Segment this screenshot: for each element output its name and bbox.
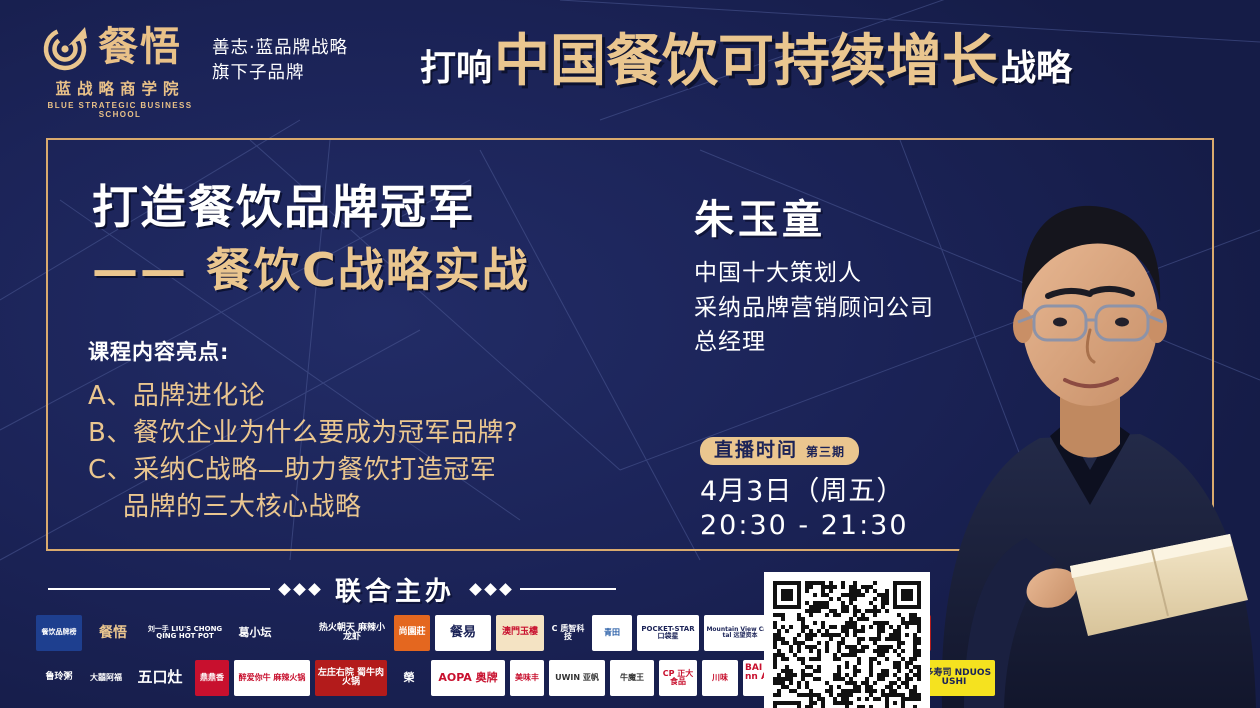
logo-school-cn: 蓝战略商学院 [42,77,198,99]
aopa-logo-label: AOPA 奥牌 [436,672,499,684]
aomenyulou-logo-label: 澳門玉樓 [500,628,540,637]
cohost-line-left [48,588,270,590]
page-title: 打造餐饮品牌冠军 —— 餐饮C战略实战 [92,182,530,295]
qingtian-logo-label: 青田 [602,629,622,637]
sponsor-grid: 餐饮品牌榜餐悟刘一手 LIU'S CHONGQING HOT POT葛小坛热火朝… [36,612,736,702]
zhizhi-keji-logo[interactable]: C 质智科技 [549,615,587,651]
canyi-logo-label: 餐易 [448,626,478,640]
pocket-star-logo-label: POCKET-STAR 口袋星 [637,626,699,641]
live-time-badge: 直播时间 第三期 [700,437,859,465]
live-schedule: 直播时间 第三期 4月3日（周五） 20:30 - 21:30 [700,437,909,543]
zuolinyouyuan-logo[interactable]: 左庄右院 蜀牛肉火锅 [315,660,387,696]
wukouzao-logo[interactable]: 五口灶 [130,660,190,696]
logo-brand-cn: 餐悟 [98,27,182,67]
logo-tagline: 善志·蓝品牌战略 旗下子品牌 [212,36,348,87]
course-highlights: 课程内容亮点: A、品牌进化论 B、餐饮企业为什么要成为冠军品牌? C、采纳C战… [88,336,518,526]
canwu-logo[interactable]: 餐悟 [87,615,139,651]
header-title: 打响 中国餐饮可持续增长 战略 [420,34,1072,90]
wutouniu-logo-label: 大囍阿福 [88,674,124,682]
lulingzhou-logo-label: 鲁玲粥 [43,673,74,682]
zuolinyouyuan-logo-label: 左庄右院 蜀牛肉火锅 [315,669,387,688]
course-point-b: B、餐饮企业为什么要成为冠军品牌? [88,415,518,452]
aopa-logo[interactable]: AOPA 奥牌 [431,660,505,696]
speaker-name: 朱玉童 [694,200,934,240]
qingtian-logo[interactable]: 青田 [592,615,632,651]
rongyu-logo[interactable]: 榮 [392,660,426,696]
speaker-role-3: 总经理 [694,325,934,360]
cctv-food-logo-label: 餐饮品牌榜 [40,629,79,636]
shangyuanzhuang-logo-label: 尚園莊 [396,628,427,637]
target-bullseye-icon [42,22,92,72]
header-title-prefix: 打响 [420,51,492,90]
cp-logo-label: CP 正大食品 [659,670,697,687]
logo-tagline-line2: 旗下子品牌 [212,61,348,86]
logo-tagline-line1: 善志·蓝品牌战略 [212,36,348,61]
niuniu-logo-label: 牛魔王 [618,674,646,682]
wukouzao-logo-label: 五口灶 [135,670,184,686]
gexiaotan-logo-label: 葛小坛 [237,627,274,639]
course-point-a: A、品牌进化论 [88,378,518,415]
live-badge-label: 直播时间 [714,441,798,460]
header-title-suffix: 战略 [1000,51,1072,90]
rongyu-logo-label: 榮 [402,672,417,684]
meiwei-logo-label: 美味丰 [513,674,541,682]
lulingzhou-logo[interactable]: 鲁玲粥 [36,660,82,696]
live-date: 4月3日（周五） [700,475,909,509]
main-title-line1: 打造餐饮品牌冠军 [92,182,530,233]
speaker-role-1: 中国十大策划人 [694,256,934,291]
wutouniu-logo[interactable]: 大囍阿福 [87,660,125,696]
brand-logo[interactable]: 餐悟 蓝战略商学院 BLUE STRATEGIC BUSINESS SCHOOL… [42,22,348,119]
canyi-logo[interactable]: 餐易 [435,615,491,651]
logo-mark: 餐悟 蓝战略商学院 BLUE STRATEGIC BUSINESS SCHOOL [42,22,198,119]
header-title-main: 中国餐饮可持续增长 [494,34,998,90]
rehuochaotian-logo-label: 热火朝天 麻辣小龙虾 [315,624,389,643]
course-highlights-heading: 课程内容亮点: [88,336,518,366]
qr-code[interactable] [773,581,921,708]
cctv-food-logo[interactable]: 餐饮品牌榜 [36,615,82,651]
gexiaotan-logo[interactable]: 葛小坛 [231,615,279,651]
main-title-line2: —— 餐饮C战略实战 [92,245,530,296]
uwin-logo-label: UWIN 亚帆 [553,674,601,682]
cohost-diamonds-left [280,585,319,594]
header: 餐悟 蓝战略商学院 BLUE STRATEGIC BUSINESS SCHOOL… [0,0,1260,130]
niuniu-logo[interactable]: 牛魔王 [610,660,654,696]
course-point-c-cont: 品牌的三大核心战略 [88,489,518,526]
zuiaininiu-logo-label: 醉爱你牛 麻辣火锅 [237,674,308,682]
course-point-c: C、采纳C战略—助力餐饮打造冠军 [88,452,518,489]
rehuochaotian-logo[interactable]: 热火朝天 麻辣小龙虾 [315,615,389,651]
zuiaininiu-logo[interactable]: 醉爱你牛 麻辣火锅 [234,660,310,696]
pocket-star-logo[interactable]: POCKET-STAR 口袋星 [637,615,699,651]
qr-code-container[interactable] [764,572,930,708]
live-time: 20:30 - 21:30 [700,509,909,543]
sponsor-row-1: 餐饮品牌榜餐悟刘一手 LIU'S CHONGQING HOT POT葛小坛热火朝… [36,612,736,654]
speaker-role-2: 采纳品牌营销顾问公司 [694,291,934,326]
cohost-label: 联合主办 [329,571,461,608]
mascot-logo[interactable] [284,615,310,651]
cohost-divider: 联合主办 [0,572,760,606]
speaker-roles: 中国十大策划人 采纳品牌营销顾问公司 总经理 [694,256,934,360]
aomenyulou-logo[interactable]: 澳門玉樓 [496,615,544,651]
chuanwei-logo[interactable]: 川味 [702,660,738,696]
uwin-logo[interactable]: UWIN 亚帆 [549,660,605,696]
zhizhi-keji-logo-label: C 质智科技 [549,625,587,642]
cohost-line-right [520,588,616,590]
poster-root: 餐悟 蓝战略商学院 BLUE STRATEGIC BUSINESS SCHOOL… [0,0,1260,708]
hongweiyuan-logo-label: 鼎鼎香 [198,674,226,682]
liuyishou-hotpot-logo[interactable]: 刘一手 LIU'S CHONGQING HOT POT [144,615,226,651]
canwu-logo-label: 餐悟 [97,626,129,641]
shangyuanzhuang-logo[interactable]: 尚園莊 [394,615,430,651]
logo-school-en: BLUE STRATEGIC BUSINESS SCHOOL [42,101,198,119]
meiwei-logo[interactable]: 美味丰 [510,660,544,696]
liuyishou-hotpot-logo-label: 刘一手 LIU'S CHONGQING HOT POT [144,626,226,641]
cp-logo[interactable]: CP 正大食品 [659,660,697,696]
speaker-info: 朱玉童 中国十大策划人 采纳品牌营销顾问公司 总经理 [694,200,934,360]
live-badge-episode: 第三期 [806,443,845,460]
chuanwei-logo-label: 川味 [710,674,730,682]
cohost-diamonds-right [471,585,510,594]
sponsor-row-2: 鲁玲粥大囍阿福五口灶鼎鼎香醉爱你牛 麻辣火锅左庄右院 蜀牛肉火锅榮AOPA 奥牌… [36,657,736,699]
hongweiyuan-logo[interactable]: 鼎鼎香 [195,660,229,696]
